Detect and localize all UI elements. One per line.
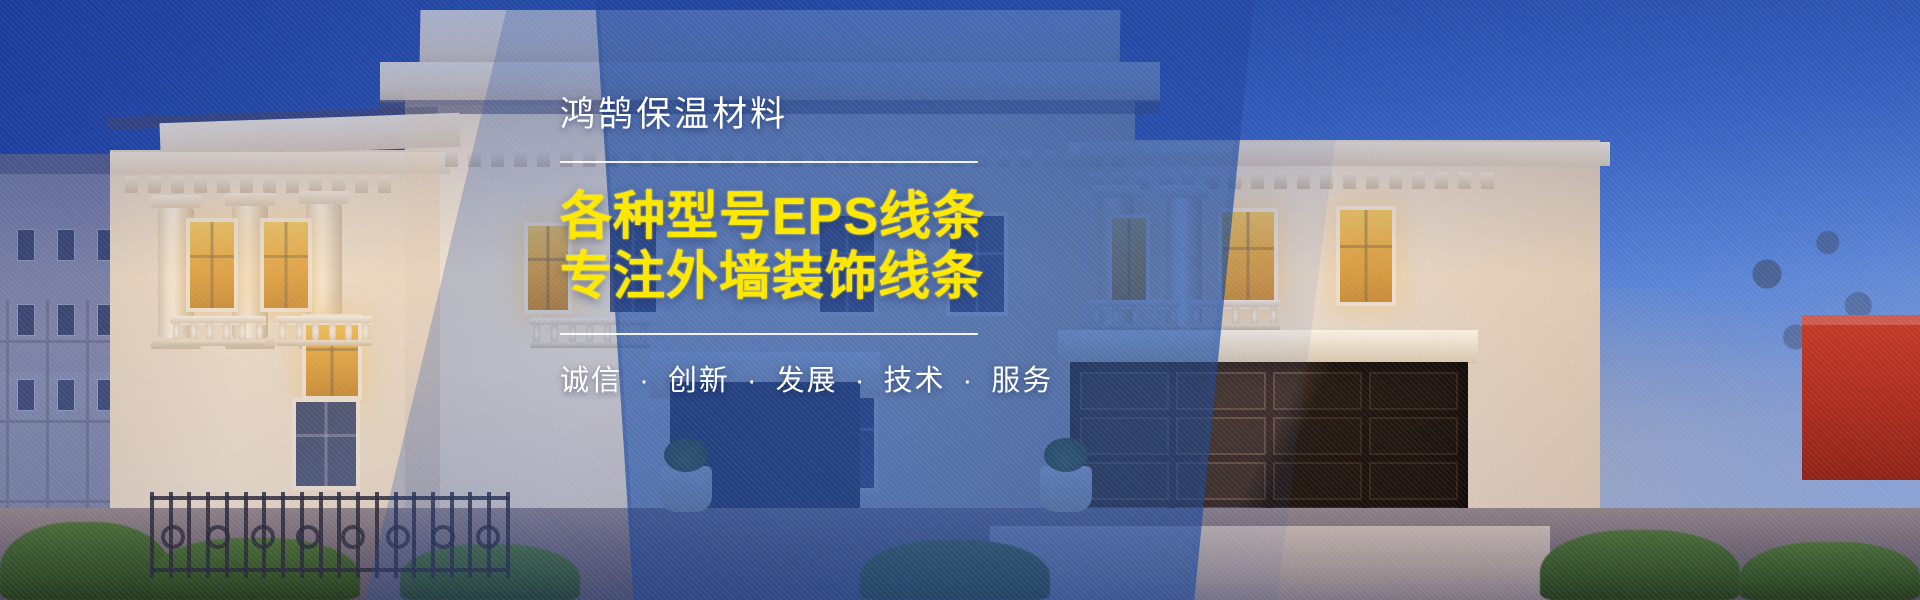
tagline-item-3: 发展 (776, 365, 838, 397)
brand-name: 鸿鹄保温材料 (560, 96, 1020, 135)
tagline-separator: · (747, 365, 759, 397)
shrub (0, 522, 170, 600)
tagline: 诚信 · 创新 · 发展 · 技术 · 服务 (560, 357, 1020, 399)
tagline-separator: · (963, 365, 975, 397)
shrub (1540, 530, 1740, 600)
tagline-item-1: 诚信 (560, 365, 622, 397)
headline: 各种型号EPS线条 专注外墙装饰线条 (560, 187, 1020, 308)
divider-bottom (560, 333, 978, 335)
headline-line-2: 专注外墙装饰线条 (560, 247, 1020, 307)
shrub (1740, 542, 1920, 600)
tagline-item-5: 服务 (991, 365, 1053, 397)
headline-line-1: 各种型号EPS线条 (560, 187, 1020, 247)
red-structure (1802, 315, 1920, 480)
tagline-item-4: 技术 (883, 365, 945, 397)
tagline-separator: · (855, 365, 867, 397)
divider-top (560, 161, 978, 163)
tagline-separator: · (639, 365, 651, 397)
hero-banner: 鸿鹄保温材料 各种型号EPS线条 专注外墙装饰线条 诚信 · 创新 · 发展 ·… (0, 0, 1920, 600)
banner-copy: 鸿鹄保温材料 各种型号EPS线条 专注外墙装饰线条 诚信 · 创新 · 发展 ·… (560, 96, 1020, 399)
tagline-item-2: 创新 (668, 365, 730, 397)
